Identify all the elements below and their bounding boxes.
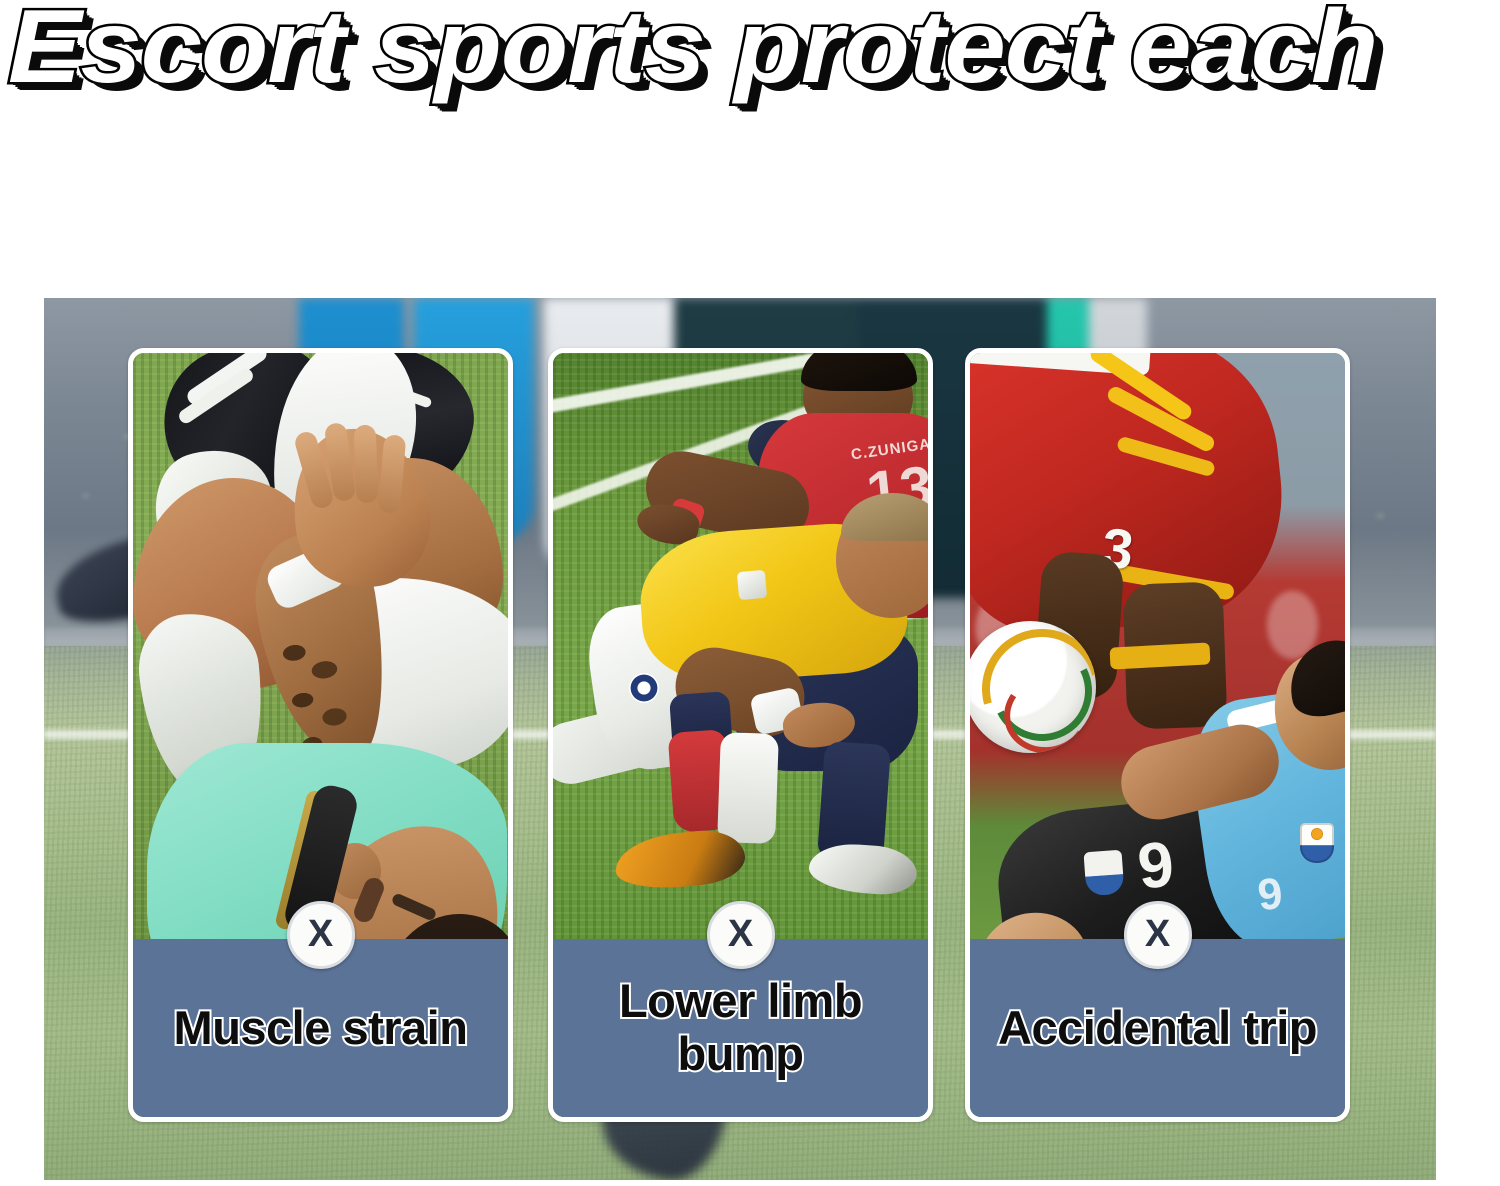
- page-title: Escort sports protect each: [8, 0, 1377, 107]
- photo-hair-red-player: [801, 353, 917, 391]
- cross-icon: X: [728, 915, 753, 953]
- injury-card-accidental-trip[interactable]: 3 9 9: [965, 348, 1350, 1122]
- caption-label-lower-limb-bump: Lower limb bump: [567, 975, 914, 1080]
- photo-black-shorts-number: 9: [1135, 831, 1177, 898]
- photo-black-shorts-crest: [1084, 850, 1125, 897]
- injury-card-row: X Muscle strain C.ZUNIGA 13: [44, 298, 1436, 1180]
- caption-label-accidental-trip: Accidental trip: [998, 1002, 1317, 1055]
- page-title-banner: Escort sports protect each: [0, 0, 1500, 120]
- cross-badge-accidental-trip: X: [1124, 901, 1192, 969]
- photo-blue-jersey-crest: [1300, 823, 1334, 863]
- photo-match-ball: [970, 621, 1096, 753]
- cross-icon: X: [308, 915, 333, 953]
- cross-badge-muscle-strain: X: [287, 901, 355, 969]
- photo-blue-jersey-number: 9: [1256, 872, 1285, 918]
- photo-shorts-badge: [629, 673, 659, 703]
- injury-card-muscle-strain[interactable]: X Muscle strain: [128, 348, 513, 1122]
- cross-badge-lower-limb-bump: X: [707, 901, 775, 969]
- caption-label-muscle-strain: Muscle strain: [174, 1002, 468, 1055]
- stadium-photo-panel: X Muscle strain C.ZUNIGA 13: [44, 298, 1436, 1180]
- cross-icon: X: [1145, 915, 1170, 953]
- photo-sock-white: [717, 732, 779, 844]
- photo-finger-3: [354, 425, 379, 504]
- photo-yellow-jersey-badge: [737, 570, 767, 600]
- injury-card-lower-limb-bump[interactable]: C.ZUNIGA 13: [548, 348, 933, 1122]
